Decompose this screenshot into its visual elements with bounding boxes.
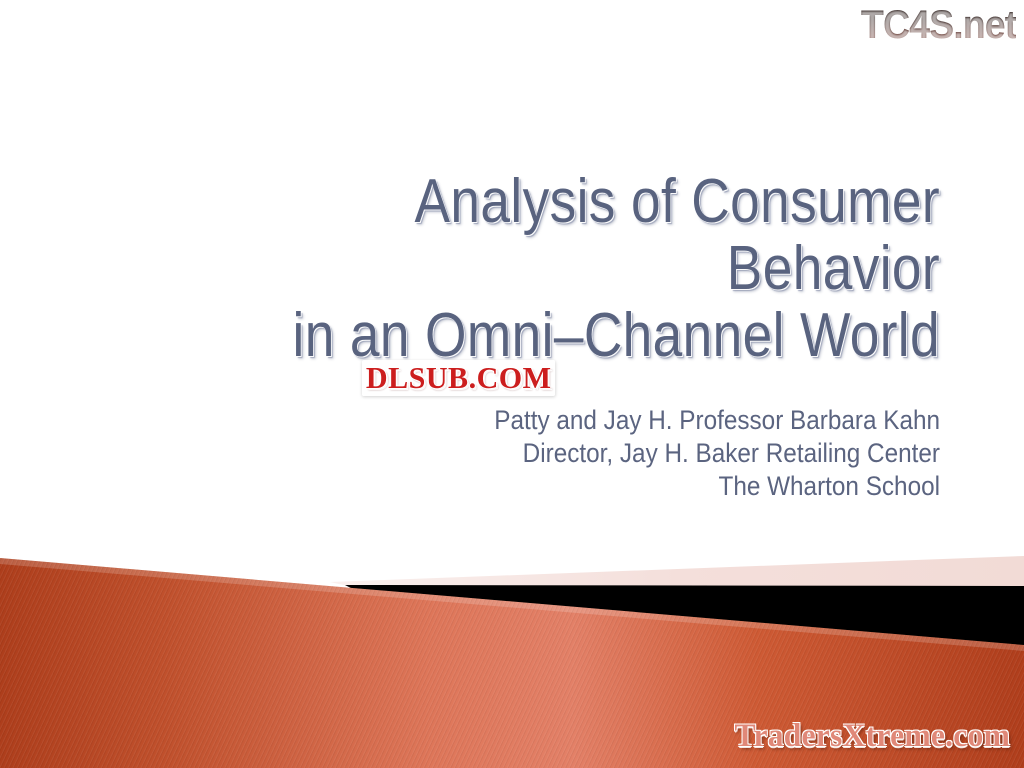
watermark-dlsub-com: DLSUB.COM	[362, 360, 555, 396]
watermark-tradersxtreme-com: TradersXtreme.com	[734, 718, 1010, 754]
subtitle-line-2: Director, Jay H. Baker Retailing Center	[202, 437, 940, 470]
watermark-tc4s-net: TC4S.net	[861, 3, 1016, 47]
presentation-slide: Analysis of Consumer Behavior in an Omni…	[0, 0, 1024, 768]
pink-wedge-shape	[330, 556, 1024, 586]
subtitle-line-3: The Wharton School	[202, 470, 940, 503]
slide-subtitle: Patty and Jay H. Professor Barbara Kahn …	[120, 404, 940, 503]
title-line-2: Behavior	[183, 235, 940, 302]
title-line-1: Analysis of Consumer	[183, 168, 940, 235]
title-line-3: in an Omni–Channel World	[183, 302, 940, 369]
subtitle-line-1: Patty and Jay H. Professor Barbara Kahn	[202, 404, 940, 437]
slide-title: Analysis of Consumer Behavior in an Omni…	[60, 168, 940, 369]
